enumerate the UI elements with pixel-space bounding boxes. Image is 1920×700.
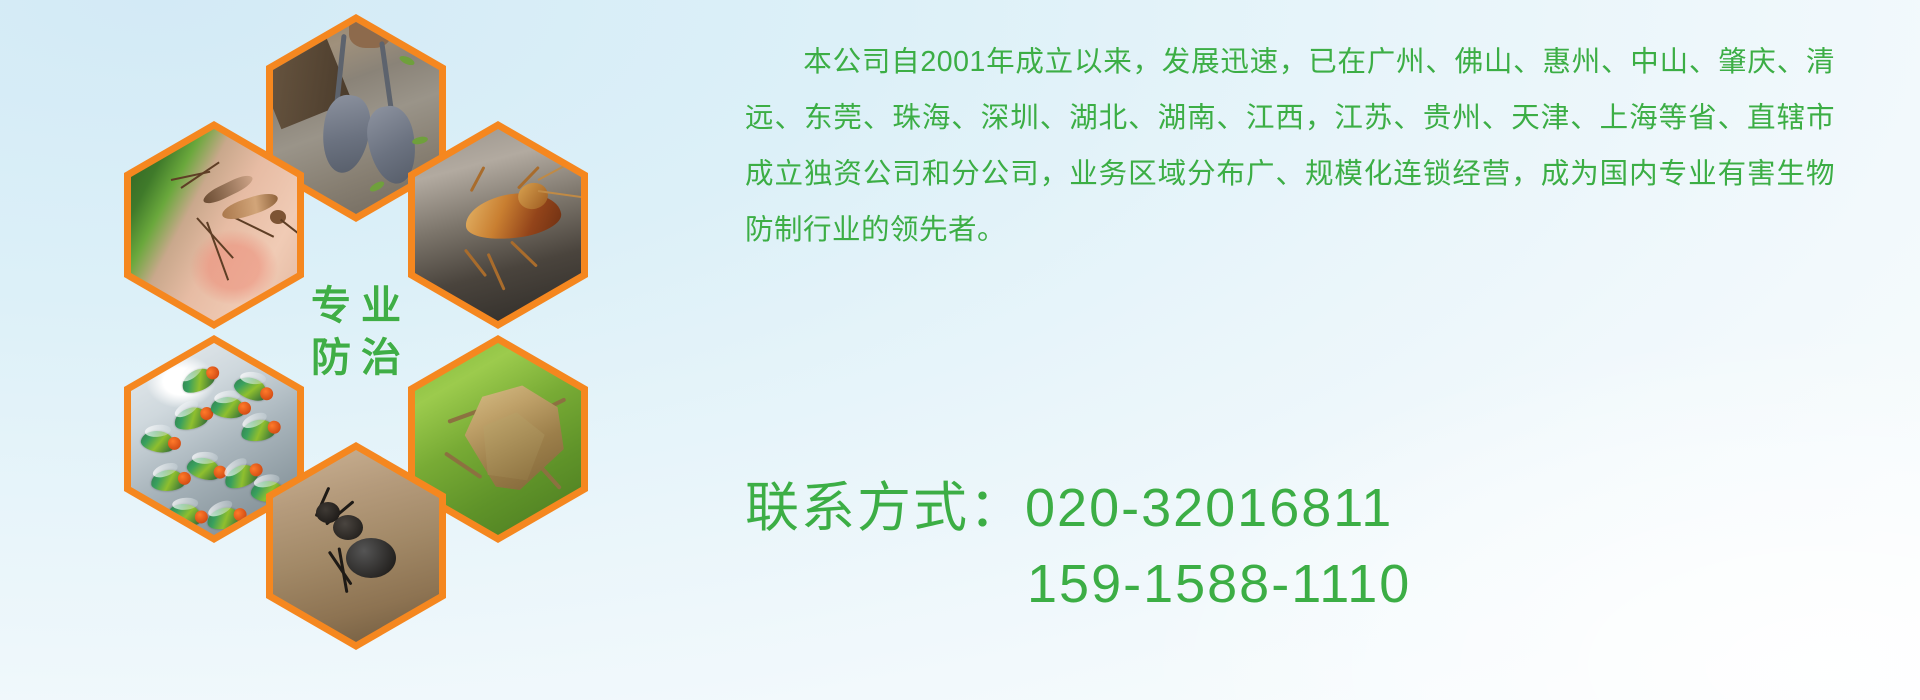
center-label-line-1: 专业 <box>301 285 411 327</box>
contact-block: 联系方式：020-32016811 159-1588-1110 <box>745 470 1411 622</box>
contact-primary-line[interactable]: 联系方式：020-32016811 <box>745 470 1411 546</box>
contact-phone-primary[interactable]: 020-32016811 <box>1025 478 1393 538</box>
hex-photo-ant <box>273 450 439 642</box>
banner-root: 专业 防治 <box>0 0 1920 700</box>
honeycomb-gallery: 专业 防治 <box>80 8 600 568</box>
intro-copy-block: 本公司自2001年成立以来，发展迅速，已在广州、佛山、惠州、中山、肇庆、清远、东… <box>745 34 1835 258</box>
intro-paragraph: 本公司自2001年成立以来，发展迅速，已在广州、佛山、惠州、中山、肇庆、清远、东… <box>745 34 1835 258</box>
center-label-line-2: 防治 <box>301 337 411 379</box>
intro-paragraph-text: 本公司自2001年成立以来，发展迅速，已在广州、佛山、惠州、中山、肇庆、清远、东… <box>745 46 1835 246</box>
ant-photo-icon <box>273 450 439 642</box>
contact-label: 联系方式： <box>745 478 1025 538</box>
honeycomb-center-label: 专业 防治 <box>266 228 446 436</box>
contact-phone-secondary[interactable]: 159-1588-1110 <box>745 546 1411 622</box>
